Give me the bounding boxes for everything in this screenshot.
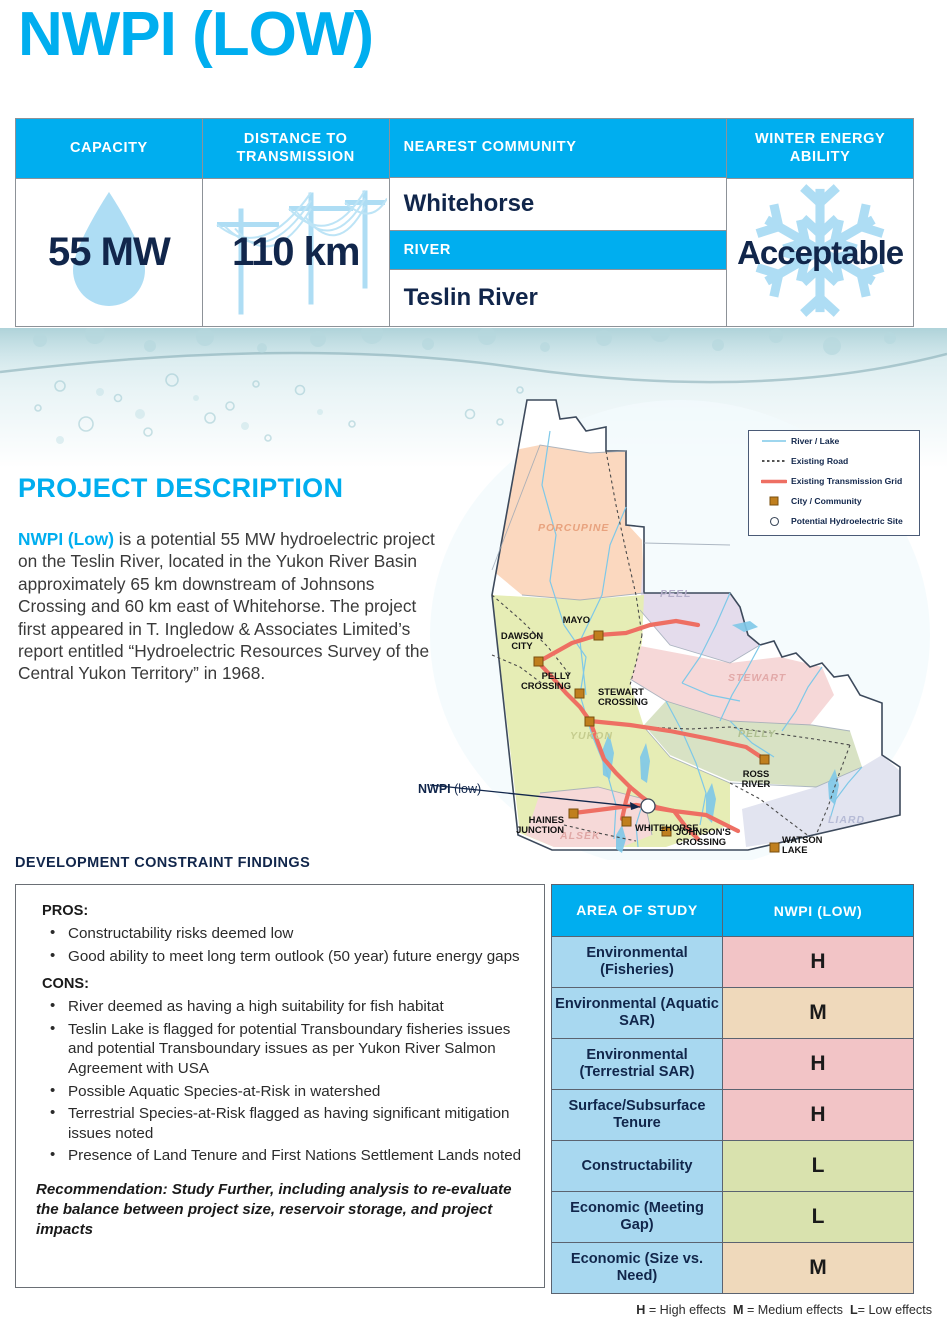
svg-text:CITY: CITY	[511, 640, 533, 651]
table-row: Economic (Size vs. Need) M	[551, 1243, 914, 1294]
circle-marker-icon	[757, 516, 791, 527]
spec-header-nearest-community: NEAREST COMMUNITY	[390, 119, 727, 178]
svg-text:YUKON: YUKON	[570, 730, 613, 742]
list-item: Teslin Lake is flagged for potential Tra…	[46, 1020, 528, 1079]
spec-header-capacity: CAPACITY	[16, 119, 202, 179]
project-description-text: is a potential 55 MW hydroelectric proje…	[18, 529, 435, 683]
spec-body-nearest-community: Whitehorse RIVER Teslin River	[390, 178, 727, 326]
spec-value-capacity: 55 MW	[48, 230, 170, 275]
community-river-stack: Whitehorse RIVER Teslin River	[390, 178, 727, 326]
footnote-l-text: = Low effects	[858, 1303, 932, 1317]
svg-text:JUNCTION: JUNCTION	[516, 824, 564, 835]
spec-body-distance: 110 km	[203, 179, 389, 326]
svg-text:PEEL: PEEL	[660, 588, 691, 600]
spec-column-nearest-community: NEAREST COMMUNITY Whitehorse RIVER Tesli…	[390, 119, 728, 326]
project-description-lead: NWPI (Low)	[18, 529, 114, 549]
svg-text:PORCUPINE: PORCUPINE	[538, 522, 609, 534]
findings-heading: DEVELOPMENT CONSTRAINT FINDINGS	[15, 855, 310, 871]
footnote-l: L	[850, 1303, 858, 1317]
svg-text:LAKE: LAKE	[782, 844, 808, 855]
spec-column-distance: DISTANCE TO TRANSMISSION	[203, 119, 390, 326]
spec-body-winter-energy: Acceptable	[727, 179, 913, 326]
ratings-area: Environmental (Aquatic SAR)	[551, 988, 722, 1039]
spec-header-distance: DISTANCE TO TRANSMISSION	[203, 119, 389, 179]
project-description-heading: PROJECT DESCRIPTION	[18, 473, 343, 504]
footnote-h: H	[636, 1303, 645, 1317]
legend-label-community: City / Community	[791, 496, 862, 506]
recommendation-text: Recommendation: Study Further, including…	[36, 1180, 528, 1240]
river-label: RIVER	[390, 230, 727, 270]
spec-value-winter-energy: Acceptable	[737, 234, 903, 272]
river-line-icon	[757, 438, 791, 444]
legend-label-road: Existing Road	[791, 456, 848, 466]
map-annotation-light: (low)	[451, 782, 482, 796]
legend-item-community: City / Community	[749, 491, 919, 511]
svg-text:ALSEK: ALSEK	[559, 830, 601, 842]
table-row: Environmental (Fisheries) H	[551, 937, 914, 988]
map-annotation-label: NWPI (low)	[418, 782, 481, 796]
ratings-value: H	[722, 1090, 914, 1141]
map-legend: River / Lake Existing Road Existing Tran…	[748, 430, 920, 536]
svg-text:LIARD: LIARD	[828, 814, 865, 826]
dotted-line-icon	[757, 458, 791, 464]
list-item: River deemed as having a high suitabilit…	[46, 997, 528, 1017]
list-item: Terrestrial Species-at-Risk flagged as h…	[46, 1104, 528, 1143]
pros-cons-panel: PROS: Constructability risks deemed low …	[15, 884, 545, 1288]
ratings-value: L	[722, 1192, 914, 1243]
table-row: Environmental (Aquatic SAR) M	[551, 988, 914, 1039]
footnote-m: M	[733, 1303, 744, 1317]
svg-text:STEWART: STEWART	[728, 672, 787, 684]
map-annotation-bold: NWPI	[418, 782, 451, 796]
river-value: Teslin River	[390, 270, 727, 326]
ratings-footnote: H = High effects M = Medium effects L= L…	[636, 1303, 932, 1317]
list-item: Good ability to meet long term outlook (…	[46, 947, 528, 967]
project-description-body: NWPI (Low) is a potential 55 MW hydroele…	[18, 528, 438, 685]
legend-item-river: River / Lake	[749, 431, 919, 451]
spec-body-capacity: 55 MW	[16, 179, 202, 326]
pros-label: PROS:	[42, 903, 528, 919]
svg-text:CROSSING: CROSSING	[676, 836, 726, 847]
ratings-area: Economic (Meeting Gap)	[551, 1192, 722, 1243]
infographic-page: NWPI (LOW) CAPACITY 55 MW DISTANCE TO TR…	[0, 0, 947, 1331]
ratings-header-row: AREA OF STUDY NWPI (LOW)	[551, 884, 914, 937]
ratings-area: Surface/Subsurface Tenure	[551, 1090, 722, 1141]
ratings-value: M	[722, 988, 914, 1039]
spec-header-winter-energy: WINTER ENERGY ABILITY	[727, 119, 913, 179]
spec-column-capacity: CAPACITY 55 MW	[16, 119, 203, 326]
legend-item-transmission: Existing Transmission Grid	[749, 471, 919, 491]
cons-label: CONS:	[42, 976, 528, 992]
footnote-h-text: = High effects	[645, 1303, 726, 1317]
spec-column-winter-energy: WINTER ENERGY ABILITY	[727, 119, 913, 326]
community-value: Whitehorse	[390, 178, 727, 230]
table-row: Environmental (Terrestrial SAR) H	[551, 1039, 914, 1090]
legend-item-hydro-site: Potential Hydroelectric Site	[749, 511, 919, 531]
ratings-value: M	[722, 1243, 914, 1294]
svg-text:RIVER: RIVER	[742, 778, 771, 789]
ratings-value: H	[722, 937, 914, 988]
ratings-table: AREA OF STUDY NWPI (LOW) Environmental (…	[551, 884, 914, 1294]
svg-text:PELLY: PELLY	[738, 728, 776, 740]
table-row: Surface/Subsurface Tenure H	[551, 1090, 914, 1141]
svg-text:CROSSING: CROSSING	[598, 696, 648, 707]
ratings-area: Constructability	[551, 1141, 722, 1192]
footnote-m-text: = Medium effects	[743, 1303, 843, 1317]
cons-list: River deemed as having a high suitabilit…	[46, 997, 528, 1166]
ratings-value: L	[722, 1141, 914, 1192]
list-item: Presence of Land Tenure and First Nation…	[46, 1146, 528, 1166]
list-item: Constructability risks deemed low	[46, 924, 528, 944]
legend-label-river: River / Lake	[791, 436, 839, 446]
legend-label-transmission: Existing Transmission Grid	[791, 476, 902, 486]
red-line-icon	[757, 478, 791, 485]
page-title: NWPI (LOW)	[18, 4, 373, 66]
ratings-value: H	[722, 1039, 914, 1090]
ratings-area: Environmental (Fisheries)	[551, 937, 722, 988]
spec-table: CAPACITY 55 MW DISTANCE TO TRANSMISSION	[15, 118, 914, 327]
ratings-area: Environmental (Terrestrial SAR)	[551, 1039, 722, 1090]
table-row: Economic (Meeting Gap) L	[551, 1192, 914, 1243]
ratings-header-area: AREA OF STUDY	[551, 884, 722, 937]
svg-text:CROSSING: CROSSING	[521, 680, 571, 691]
ratings-header-value: NWPI (LOW)	[722, 884, 914, 937]
svg-text:MAYO: MAYO	[563, 614, 590, 625]
spec-value-distance: 110 km	[232, 230, 359, 275]
legend-label-hydro-site: Potential Hydroelectric Site	[791, 516, 903, 526]
legend-item-road: Existing Road	[749, 451, 919, 471]
pros-list: Constructability risks deemed low Good a…	[46, 924, 528, 966]
table-row: Constructability L	[551, 1141, 914, 1192]
square-marker-icon	[757, 496, 791, 506]
ratings-area: Economic (Size vs. Need)	[551, 1243, 722, 1294]
list-item: Possible Aquatic Species-at-Risk in wate…	[46, 1082, 528, 1102]
